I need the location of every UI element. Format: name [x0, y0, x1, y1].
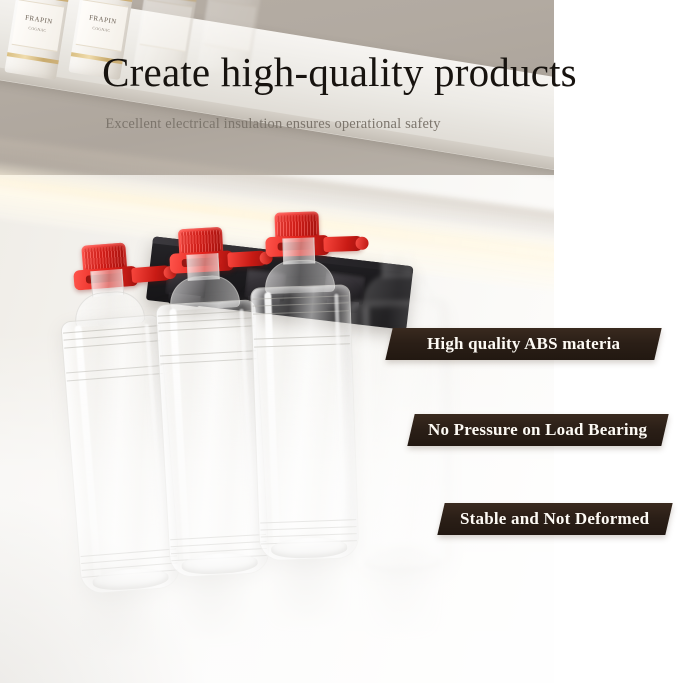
feature-banner-label: High quality ABS materia	[427, 334, 620, 354]
feature-banner-1: High quality ABS materia	[385, 328, 661, 360]
bottle-label: FRAPIN COGNAC	[76, 0, 129, 52]
corner-shading	[0, 483, 220, 683]
feature-banner-label: No Pressure on Load Bearing	[428, 420, 647, 440]
clamp-mount-tab	[131, 265, 172, 283]
bottle-variant: COGNAC	[14, 23, 60, 35]
product-marketing-image: FRAPIN COGNAC FRAPIN COGNAC	[0, 0, 679, 683]
page-subtitle: Excellent electrical insulation ensures …	[0, 116, 546, 133]
feature-banner-label: Stable and Not Deformed	[460, 509, 649, 529]
feature-banner-2: No Pressure on Load Bearing	[407, 414, 668, 446]
feature-banner-3: Stable and Not Deformed	[437, 503, 672, 535]
bottle-brand: FRAPIN	[25, 14, 54, 26]
bottle-label	[140, 0, 193, 52]
page-title: Create high-quality products	[0, 52, 679, 93]
cap-ridges	[180, 230, 221, 253]
bottle-label	[204, 0, 257, 52]
clamp-mount-tab	[323, 236, 363, 252]
bottle-label: FRAPIN COGNAC	[12, 0, 65, 52]
clamp-mount-tab	[227, 250, 268, 267]
bottle-brand: FRAPIN	[89, 14, 118, 26]
bottle-variant: COGNAC	[78, 23, 124, 35]
cap-ridges	[277, 214, 318, 236]
